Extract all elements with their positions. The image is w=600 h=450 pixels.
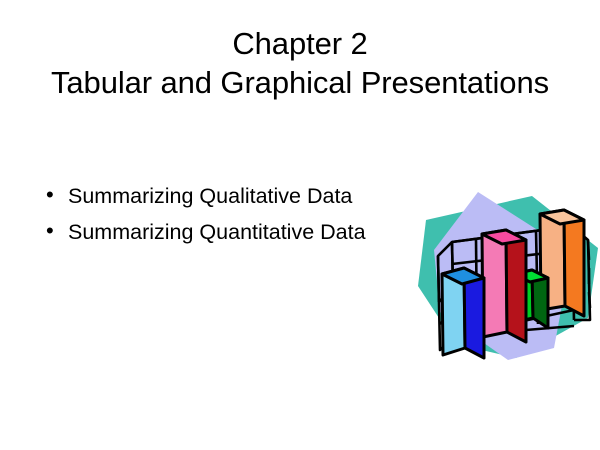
bullet-list: • Summarizing Qualitative Data • Summari… — [46, 183, 446, 254]
title-line-1: Chapter 2 — [0, 24, 600, 63]
pink-red-bar-left-face — [482, 230, 507, 337]
list-item: • Summarizing Quantitative Data — [46, 219, 446, 247]
list-item: • Summarizing Qualitative Data — [46, 183, 446, 211]
bullet-item-label: Summarizing Quantitative Data — [68, 219, 446, 247]
bullet-item-label: Summarizing Qualitative Data — [68, 183, 446, 211]
bullet-point-icon: • — [46, 184, 68, 206]
pink-red-bar — [482, 230, 526, 342]
pink-red-bar-right-face — [506, 230, 526, 342]
title-line-2: Tabular and Graphical Presentations — [0, 63, 600, 102]
blue-bar — [442, 268, 484, 358]
bullet-point-icon: • — [46, 220, 68, 242]
bar-chart-clipart-image — [412, 190, 598, 365]
page-title: Chapter 2 Tabular and Graphical Presenta… — [0, 24, 600, 102]
orange-bar-right-face — [564, 210, 584, 316]
slide-canvas: Chapter 2 Tabular and Graphical Presenta… — [0, 0, 600, 450]
bar-chart-clipart-svg — [412, 190, 598, 365]
